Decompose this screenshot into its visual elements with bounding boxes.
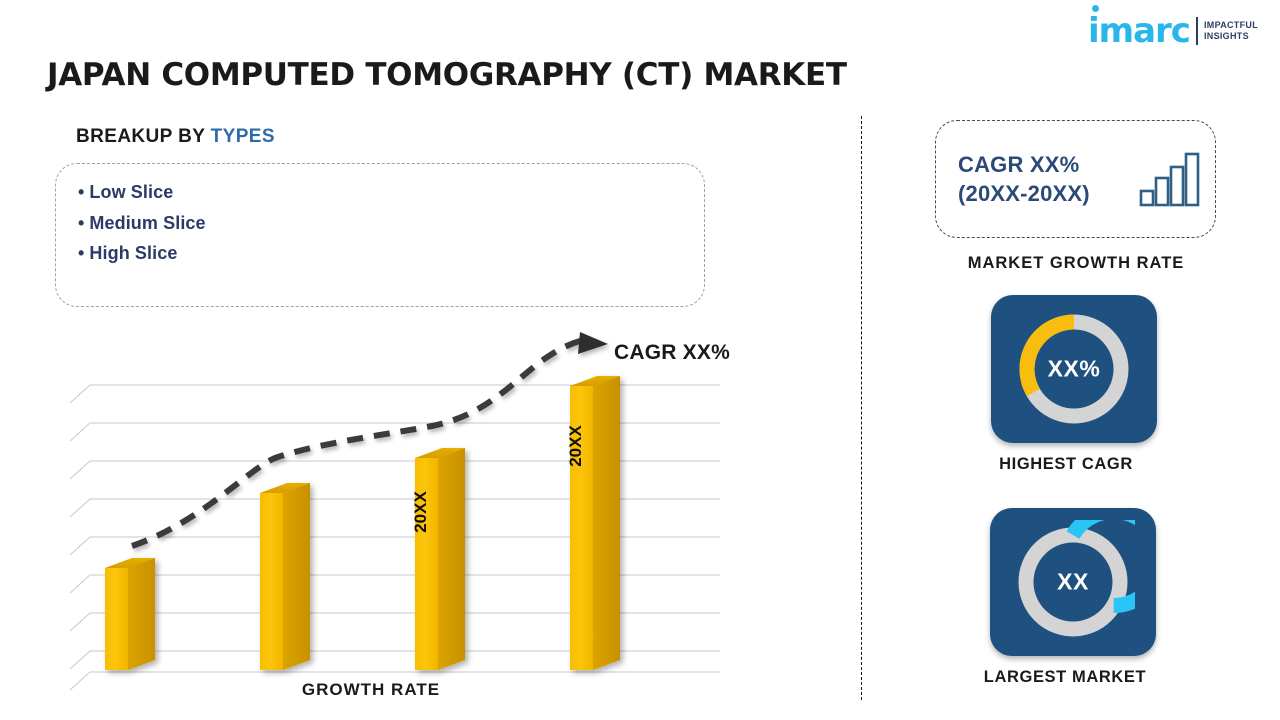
list-item: •High Slice: [78, 238, 704, 269]
largest-market-caption: LARGEST MARKET: [982, 668, 1148, 687]
logo-divider: [1196, 17, 1198, 45]
largest-market-value: XX: [990, 569, 1156, 596]
breakup-heading: BREAKUP BY TYPES: [76, 126, 275, 148]
page-title: JAPAN COMPUTED TOMOGRAPHY (CT) MARKET: [47, 57, 847, 93]
market-growth-rate-caption: MARKET GROWTH RATE: [880, 254, 1272, 273]
chart-gridlines: [70, 385, 720, 690]
imarc-logo: imarc IMPACTFUL INSIGHTS: [1088, 14, 1258, 48]
chart-trendline: [132, 332, 608, 546]
logo-wordmark: imarc: [1088, 14, 1190, 48]
chart-cagr-callout: CAGR XX%: [614, 341, 730, 365]
market-growth-rate-card: CAGR XX% (20XX-20XX): [935, 120, 1216, 238]
bullet-icon: •: [78, 213, 84, 233]
chart-bar-3: 20XX: [411, 448, 465, 670]
list-item: •Medium Slice: [78, 208, 704, 239]
stat-largest-market: XX LARGEST MARKET: [990, 508, 1156, 687]
trendline-arrow-icon: [578, 332, 608, 354]
bullet-icon: •: [78, 182, 84, 202]
list-item-label: High Slice: [89, 243, 177, 263]
chart-svg: 20XX 20XX: [62, 330, 742, 705]
logo-dot-icon: [1092, 5, 1099, 12]
cagr-text: CAGR XX% (20XX-20XX): [958, 150, 1139, 208]
chart-bar-3-label: 20XX: [411, 491, 430, 533]
list-item: •Low Slice: [78, 177, 704, 208]
chart-bar-4: 20XX: [566, 376, 620, 670]
vertical-divider: [861, 116, 862, 700]
growth-rate-bar-chart: 20XX 20XX: [62, 330, 742, 705]
cagr-line2: (20XX-20XX): [958, 179, 1139, 208]
breakup-heading-prefix: BREAKUP BY: [76, 126, 211, 147]
chart-bar-1: [105, 558, 155, 670]
chart-axis-label: GROWTH RATE: [0, 680, 742, 700]
types-list-box: •Low Slice •Medium Slice •High Slice: [55, 163, 705, 307]
chart-bar-4-label: 20XX: [566, 425, 585, 467]
largest-market-card: XX: [990, 508, 1156, 656]
breakup-heading-accent: TYPES: [211, 126, 275, 147]
list-item-label: Medium Slice: [89, 213, 205, 233]
cagr-line1: CAGR XX%: [958, 150, 1139, 179]
logo-tagline-line1: IMPACTFUL: [1204, 20, 1258, 31]
highest-cagr-card: XX%: [991, 295, 1157, 443]
stat-highest-cagr: XX% HIGHEST CAGR: [991, 295, 1157, 474]
highest-cagr-caption: HIGHEST CAGR: [983, 455, 1149, 474]
bar-chart-icon: [1139, 151, 1201, 207]
chart-bar-2: [260, 483, 310, 670]
highest-cagr-value: XX%: [991, 356, 1157, 383]
logo-tagline: IMPACTFUL INSIGHTS: [1204, 20, 1258, 43]
logo-tagline-line2: INSIGHTS: [1204, 31, 1258, 42]
logo-word-text: imarc: [1088, 11, 1190, 51]
list-item-label: Low Slice: [89, 182, 173, 202]
bullet-icon: •: [78, 243, 84, 263]
